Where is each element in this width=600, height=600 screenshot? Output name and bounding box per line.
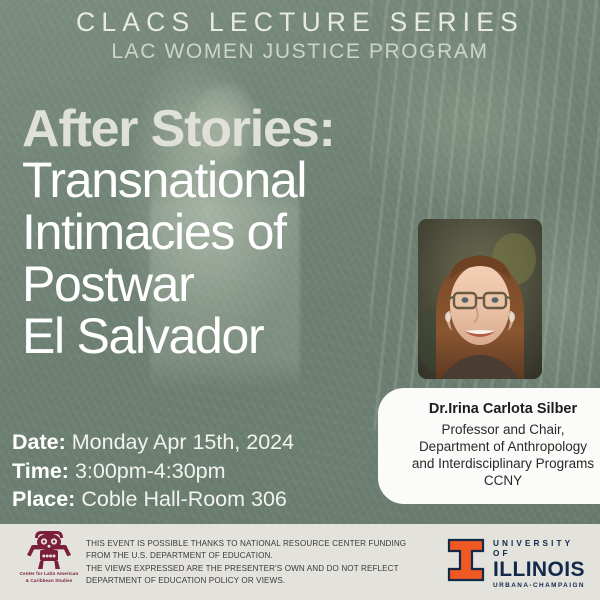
speaker-title-line-3: and Interdisciplinary Programs (392, 455, 600, 472)
title-line-1: Transnational (22, 154, 442, 206)
speaker-name: Dr.Irina Carlota Silber (392, 400, 600, 420)
clacs-logo: Center for Latin American & Caribbean St… (14, 528, 84, 584)
funding-disclaimer: THIS EVENT IS POSSIBLE THANKS TO NATIONA… (86, 538, 431, 587)
clacs-figure-icon (26, 528, 72, 570)
disclaimer-line-4: DEPARTMENT OF EDUCATION POLICY OR VIEWS. (86, 575, 431, 587)
event-date-label: Date: (12, 430, 66, 454)
event-date-row: Date: Monday Apr 15th, 2024 (12, 428, 294, 457)
disclaimer-line-1: THIS EVENT IS POSSIBLE THANKS TO NATIONA… (86, 538, 431, 550)
illinois-campus: URBANA-CHAMPAIGN (493, 582, 587, 590)
speaker-affiliation: CCNY (392, 472, 600, 489)
disclaimer-line-3: THE VIEWS EXPRESSED ARE THE PRESENTER'S … (86, 563, 431, 575)
title-line-2: Intimacies of (22, 206, 442, 258)
event-date-value: Monday Apr 15th, 2024 (72, 430, 294, 454)
speaker-portrait (418, 219, 542, 379)
disclaimer-line-2: FROM THE U.S. DEPARTMENT OF EDUCATION. (86, 550, 431, 562)
poster-header: CLACS LECTURE SERIES LAC WOMEN JUSTICE P… (0, 8, 600, 65)
speaker-info-card: Dr.Irina Carlota Silber Professor and Ch… (378, 388, 600, 504)
poster-title: After Stories: Transnational Intimacies … (22, 104, 442, 362)
event-time-value: 3:00pm-4:30pm (75, 459, 226, 483)
poster-footer: Center for Latin American & Caribbean St… (0, 524, 600, 600)
event-place-row: Place: Coble Hall-Room 306 (12, 485, 294, 514)
speaker-title-line-2: Department of Anthropology (392, 438, 600, 455)
illinois-name: ILLINOIS (493, 559, 587, 581)
event-details: Date: Monday Apr 15th, 2024 Time: 3:00pm… (12, 428, 294, 514)
speaker-title-line-1: Professor and Chair, (392, 421, 600, 438)
university-of-illinois-logo: UNIVERSITY OF ILLINOIS URBANA-CHAMPAIGN (447, 538, 587, 584)
event-time-label: Time: (12, 459, 69, 483)
series-title: CLACS LECTURE SERIES (0, 8, 600, 37)
event-time-row: Time: 3:00pm-4:30pm (12, 457, 294, 486)
title-main: After Stories: (22, 104, 442, 154)
illinois-university-of: UNIVERSITY OF (493, 539, 587, 559)
portrait-image (418, 219, 542, 379)
title-line-3: Postwar (22, 258, 442, 310)
clacs-caption-line-2: & Caribbean Studies (14, 578, 84, 584)
event-place-label: Place: (12, 487, 75, 511)
illinois-block-i-icon (447, 538, 485, 582)
illinois-wordmark: UNIVERSITY OF ILLINOIS URBANA-CHAMPAIGN (493, 539, 587, 589)
program-subtitle: LAC WOMEN JUSTICE PROGRAM (0, 39, 600, 65)
event-place-value: Coble Hall-Room 306 (81, 487, 287, 511)
clacs-caption-line-1: Center for Latin American (14, 571, 84, 577)
event-poster: CLACS LECTURE SERIES LAC WOMEN JUSTICE P… (0, 0, 600, 600)
title-line-4: El Salvador (22, 310, 442, 362)
